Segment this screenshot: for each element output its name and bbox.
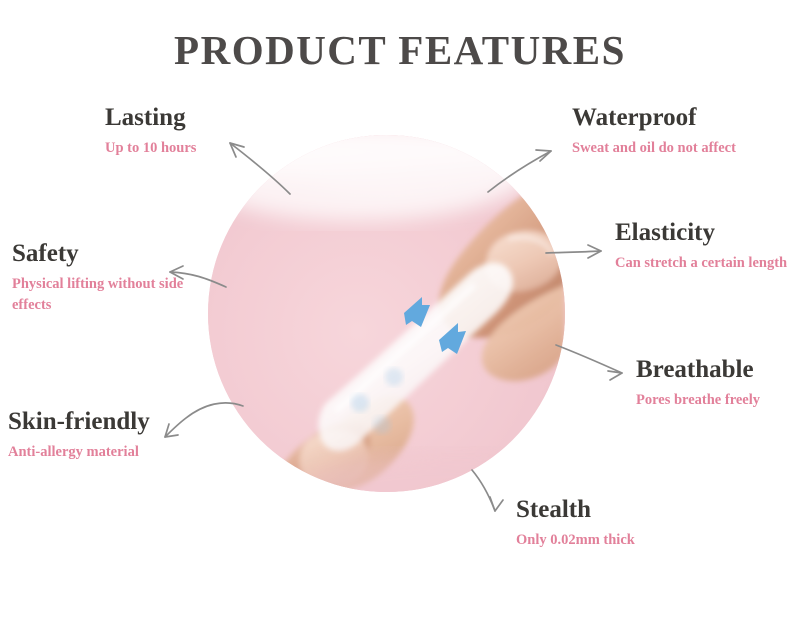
infographic-canvas: PRODUCT FEATURES: [0, 0, 800, 644]
feature-title-elasticity: Elasticity: [615, 219, 787, 247]
arrow-line-waterproof: [488, 151, 551, 192]
connector-arrows: [0, 0, 800, 644]
arrow-line-stealth: [472, 470, 495, 511]
feature-title-breathable: Breathable: [636, 356, 760, 384]
feature-title-waterproof: Waterproof: [572, 104, 736, 132]
arrow-head-breathable: [608, 371, 622, 380]
feature-lasting: Lasting Up to 10 hours: [105, 104, 196, 159]
feature-title-stealth: Stealth: [516, 496, 635, 524]
feature-title-skin-friendly: Skin-friendly: [8, 408, 150, 436]
feature-subtitle-safety: Physical lifting without side effects: [12, 274, 187, 316]
feature-stealth: Stealth Only 0.02mm thick: [516, 496, 635, 551]
feature-subtitle-breathable: Pores breathe freely: [636, 390, 760, 411]
feature-title-lasting: Lasting: [105, 104, 196, 132]
arrow-head-stealth: [490, 497, 503, 511]
feature-waterproof: Waterproof Sweat and oil do not affect: [572, 104, 736, 159]
feature-safety: Safety Physical lifting without side eff…: [12, 240, 187, 316]
feature-subtitle-lasting: Up to 10 hours: [105, 138, 196, 159]
arrow-line-lasting: [230, 143, 290, 194]
arrow-line-elasticity: [546, 251, 601, 253]
feature-subtitle-elasticity: Can stretch a certain length: [615, 253, 787, 274]
feature-subtitle-stealth: Only 0.02mm thick: [516, 530, 635, 551]
feature-title-safety: Safety: [12, 240, 187, 268]
feature-elasticity: Elasticity Can stretch a certain length: [615, 219, 787, 274]
feature-breathable: Breathable Pores breathe freely: [636, 356, 760, 411]
feature-skin-friendly: Skin-friendly Anti-allergy material: [8, 408, 150, 463]
arrow-line-breathable: [556, 345, 622, 373]
feature-subtitle-waterproof: Sweat and oil do not affect: [572, 138, 736, 159]
arrow-line-skin-friendly: [165, 403, 243, 437]
feature-subtitle-skin-friendly: Anti-allergy material: [8, 442, 150, 463]
